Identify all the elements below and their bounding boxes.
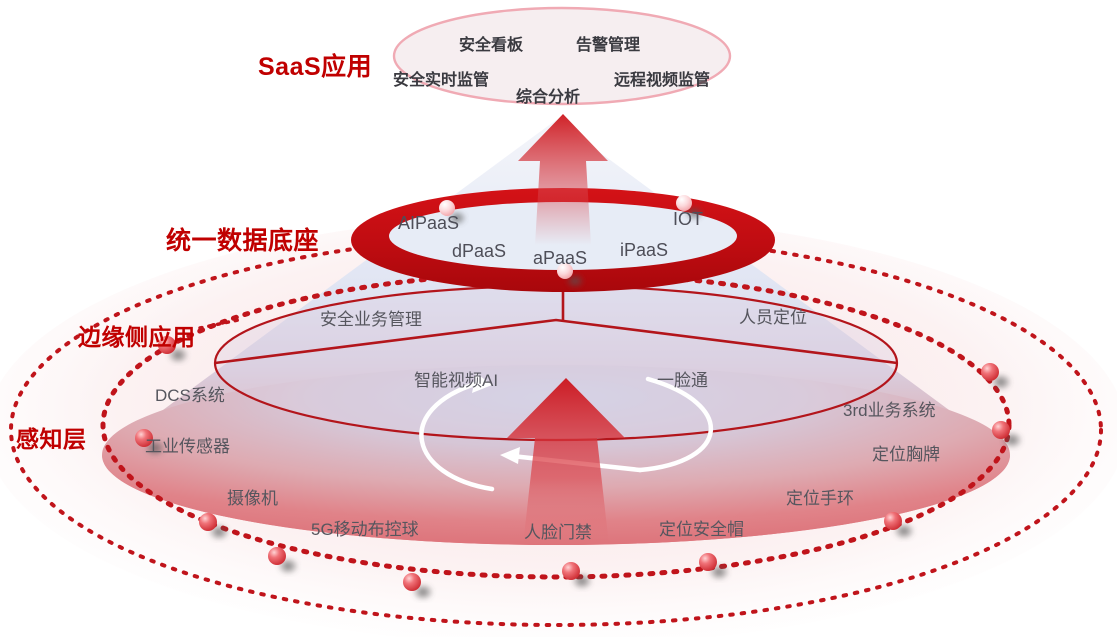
paas-item: dPaaS: [452, 241, 506, 262]
edge-item: 智能视频AI: [414, 366, 498, 391]
paas-item: aPaaS: [533, 248, 587, 269]
sense-item: 定位安全帽: [659, 515, 744, 540]
layer-label-saas: SaaS应用: [258, 47, 372, 83]
edge-item: 一脸通: [657, 366, 708, 391]
edge-item: 安全业务管理: [320, 305, 422, 330]
saas-app-item: 安全实时监管: [393, 66, 489, 90]
sense-item: 定位胸牌: [872, 440, 940, 465]
layer-label-sense: 感知层: [16, 420, 87, 454]
diagram-canvas: SaaS应用 统一数据底座 边缘侧应用 感知层 安全看板 告警管理 安全实时监管…: [0, 0, 1117, 637]
sense-item: 摄像机: [227, 484, 278, 509]
saas-app-item: 远程视频监管: [614, 66, 710, 90]
sense-item: 3rd业务系统: [843, 396, 936, 421]
layer-label-edge: 边缘侧应用: [78, 318, 196, 352]
sense-item: DCS系统: [155, 381, 225, 406]
paas-item: AIPaaS: [398, 213, 459, 234]
saas-app-item: 综合分析: [516, 83, 580, 107]
paas-item: IOT: [673, 209, 703, 230]
saas-app-item: 安全看板: [459, 31, 523, 55]
sense-item: 工业传感器: [145, 432, 230, 457]
edge-item: 人员定位: [739, 303, 807, 328]
saas-app-item: 告警管理: [576, 31, 640, 55]
sense-item: 5G移动布控球: [311, 515, 419, 540]
layer-label-paas: 统一数据底座: [166, 221, 319, 257]
paas-item: iPaaS: [620, 240, 668, 261]
sense-item: 定位手环: [786, 484, 854, 509]
sense-item: 人脸门禁: [524, 518, 592, 543]
